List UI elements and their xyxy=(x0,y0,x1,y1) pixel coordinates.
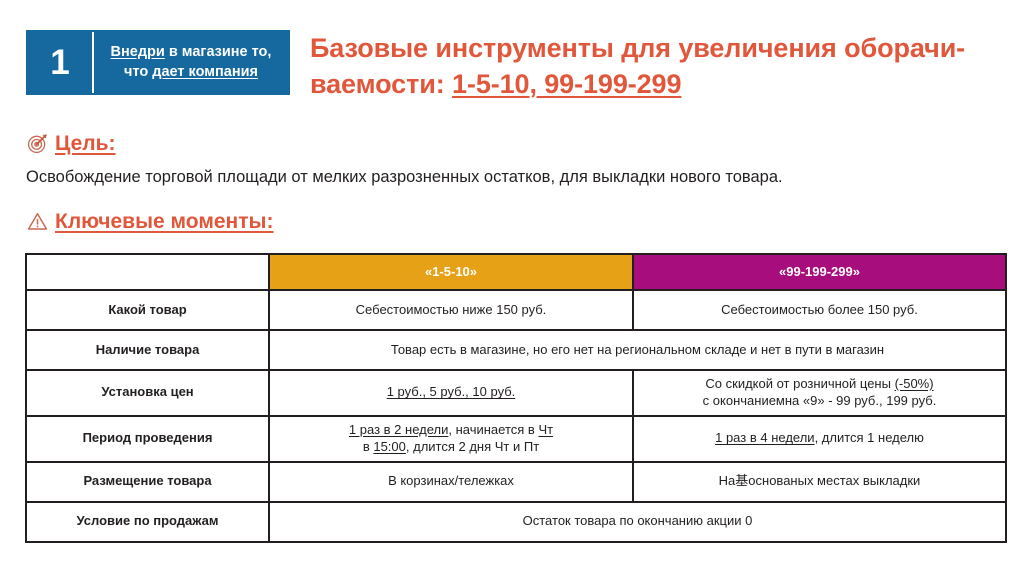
table-row: Наличие товара Товар есть в магазине, но… xyxy=(26,330,1006,370)
row-3-col-b: 1 раз в 4 недели, длится 1 неделю xyxy=(633,416,1006,462)
table-header-blank xyxy=(26,254,269,290)
row-4-col-b: На基основаных местах выкладки xyxy=(633,462,1006,502)
target-dart-icon xyxy=(26,132,48,154)
row-0-col-a: Себестоимостью ниже 150 руб. xyxy=(269,290,633,330)
table-row: Условие по продажам Остаток товара по ок… xyxy=(26,502,1006,542)
row-3-col-a-l1-underlined: 1 раз в 2 недели xyxy=(349,422,448,437)
goal-heading: Цель: xyxy=(55,133,116,154)
row-3-col-a: 1 раз в 2 недели, начинается в Чт в 15:0… xyxy=(269,416,633,462)
page-title-line2-prefix: ваемости: xyxy=(310,69,452,99)
step-number: 1 xyxy=(50,45,69,80)
page-title-line2-underlined: 1-5-10, 99-199-299 xyxy=(452,69,681,99)
table-header-row: «1-5-10» «99-199-299» xyxy=(26,254,1006,290)
key-points-table-wrapper: «1-5-10» «99-199-299» Какой товар Себест… xyxy=(25,253,1005,543)
row-2-col-b-line1-underlined: (-50%) xyxy=(895,376,934,391)
table-row: Какой товар Себестоимостью ниже 150 руб.… xyxy=(26,290,1006,330)
step-badge: 1 Внедри в магазине то, что дает компани… xyxy=(26,30,290,95)
row-1-merged-cell: Товар есть в магазине, но его нет на рег… xyxy=(269,330,1006,370)
goal-heading-row: Цель: xyxy=(26,132,783,154)
row-3-col-a-l2-underlined: 15:00 xyxy=(373,439,406,454)
row-label-3: Период проведения xyxy=(26,416,269,462)
key-points-table: «1-5-10» «99-199-299» Какой товар Себест… xyxy=(25,253,1007,543)
step-text-cell: Внедри в магазине то, что дает компания xyxy=(94,32,288,93)
keypoints-heading-row: Ключевые моменты: xyxy=(26,210,273,232)
step-text-line1-underlined: Внедри xyxy=(111,44,165,60)
row-3-col-a-l1-underlined2: Чт xyxy=(538,422,553,437)
page-title: Базовые инструменты для увеличения обора… xyxy=(310,31,1000,102)
row-3-col-b-rest: , длится 1 неделю xyxy=(815,430,924,445)
row-0-col-b: Себестоимостью более 150 руб. xyxy=(633,290,1006,330)
table-row: Размещение товара В корзинах/тележках На… xyxy=(26,462,1006,502)
row-label-1: Наличие товара xyxy=(26,330,269,370)
row-2-col-a: 1 руб., 5 руб., 10 руб. xyxy=(269,370,633,416)
row-2-col-b-line1-prefix: Со скидкой от розничной цены xyxy=(705,376,894,391)
row-2-col-a-underlined: 1 руб., 5 руб., 10 руб. xyxy=(387,384,516,399)
slide-header: 1 Внедри в магазине то, что дает компани… xyxy=(0,0,1024,120)
table-row: Период проведения 1 раз в 2 недели, начи… xyxy=(26,416,1006,462)
row-label-0: Какой товар xyxy=(26,290,269,330)
goal-body-text: Освобождение торговой площади от мелких … xyxy=(26,167,783,188)
keypoints-section: Ключевые моменты: xyxy=(26,210,273,232)
step-text-line2-rest: что xyxy=(124,64,152,80)
row-label-5: Условие по продажам xyxy=(26,502,269,542)
row-3-col-a-l2-rest: , длится 2 дня Чт и Пт xyxy=(406,439,539,454)
row-3-col-a-l2-prefix: в xyxy=(363,439,374,454)
row-4-col-a: В корзинах/тележках xyxy=(269,462,633,502)
row-2-col-b-line2: с окончаниемна «9» - 99 руб., 199 руб. xyxy=(703,393,937,408)
row-3-col-a-l1-rest: , начинается в xyxy=(448,422,538,437)
step-number-cell: 1 xyxy=(28,32,94,93)
row-5-merged-cell: Остаток товара по окончанию акции 0 xyxy=(269,502,1006,542)
row-label-4: Размещение товара xyxy=(26,462,269,502)
step-text: Внедри в магазине то, что дает компания xyxy=(111,43,272,81)
warning-triangle-icon xyxy=(26,210,48,232)
row-label-2: Установка цен xyxy=(26,370,269,416)
row-3-col-b-underlined: 1 раз в 4 недели xyxy=(715,430,814,445)
table-header-col-b: «99-199-299» xyxy=(633,254,1006,290)
keypoints-heading: Ключевые моменты: xyxy=(55,211,273,232)
step-text-line1-rest: в магазине то, xyxy=(165,44,272,60)
table-row: Установка цен 1 руб., 5 руб., 10 руб. Со… xyxy=(26,370,1006,416)
page-title-line1: Базовые инструменты для увеличения обора… xyxy=(310,33,965,63)
row-2-col-b: Со скидкой от розничной цены (-50%) с ок… xyxy=(633,370,1006,416)
step-text-line2-underlined: дает компания xyxy=(152,64,258,80)
goal-section: Цель: Освобождение торговой площади от м… xyxy=(26,132,783,188)
table-header-col-a: «1-5-10» xyxy=(269,254,633,290)
